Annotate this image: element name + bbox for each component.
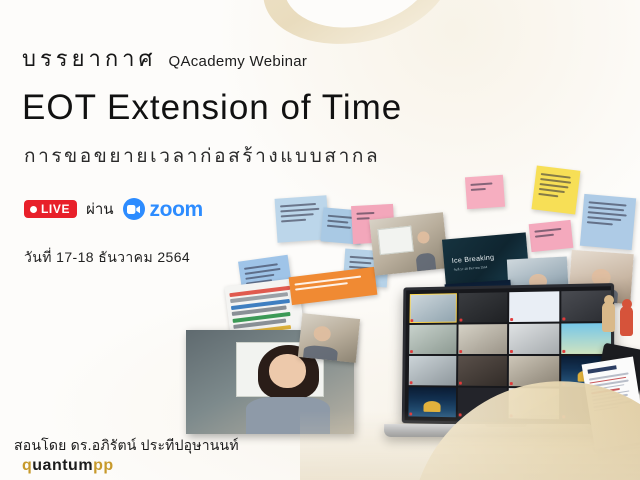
brand-logo-q: q: [22, 457, 32, 474]
ice-breaking-title: Ice Breaking: [452, 254, 495, 265]
zoom-tile[interactable]: [409, 325, 456, 354]
zoom-tile[interactable]: [458, 324, 507, 354]
brand-logo: quantumpp: [22, 458, 114, 474]
subtitle: การขอขยายเวลาก่อสร้างแบบสากล: [24, 141, 380, 171]
via-label: ผ่าน: [86, 197, 113, 221]
zoom-tile[interactable]: [409, 356, 457, 386]
live-label: LIVE: [41, 203, 70, 215]
record-dot-icon: [30, 206, 37, 213]
orange-banner-card: [289, 267, 378, 305]
figurine-wood: [602, 302, 615, 332]
zoom-tile[interactable]: [409, 293, 456, 323]
sticky-note-blue-5: [580, 194, 636, 250]
zoom-tile[interactable]: [458, 356, 507, 386]
status-badge: LIVE: [24, 200, 77, 218]
zoom-tile[interactable]: [509, 291, 559, 322]
sticky-note-yellow-1: [531, 165, 580, 214]
photo-workspace: [298, 313, 360, 363]
webinar-poster: Ice Breaking วันที่ 17-18 ธันวาคม 2564: [0, 0, 640, 480]
event-date: วันที่ 17-18 ธันวาคม 2564: [24, 247, 190, 269]
sticky-note-pink-3: [529, 220, 574, 252]
presenter-credit: สอนโดย ดร.อภิรัตน์ ประทีปอุษานนท์: [14, 435, 239, 457]
live-platform-row: LIVE ผ่าน zoom: [24, 197, 203, 221]
ice-breaking-subtitle: วันที่ 17-18 ธันวาคม 2564: [453, 265, 487, 272]
headline: บรรยากาศ QAcademy Webinar: [22, 41, 307, 76]
figurine-red: [620, 306, 633, 336]
brand-logo-middle: uantum: [32, 457, 93, 474]
sticky-note-pink-2: [465, 175, 505, 210]
headline-thai: บรรยากาศ: [22, 41, 156, 76]
video-camera-icon: [123, 198, 145, 220]
photo-meeting-room: [369, 212, 448, 275]
zoom-tile[interactable]: [459, 292, 508, 322]
brand-logo-pp: pp: [93, 457, 114, 474]
zoom-wordmark: zoom: [150, 199, 203, 220]
headline-english: QAcademy Webinar: [168, 53, 307, 70]
page-title: EOT Extension of Time: [22, 88, 402, 128]
desk-shadow: [300, 410, 640, 480]
zoom-tile[interactable]: [509, 324, 559, 354]
zoom-logo: zoom: [123, 198, 203, 220]
